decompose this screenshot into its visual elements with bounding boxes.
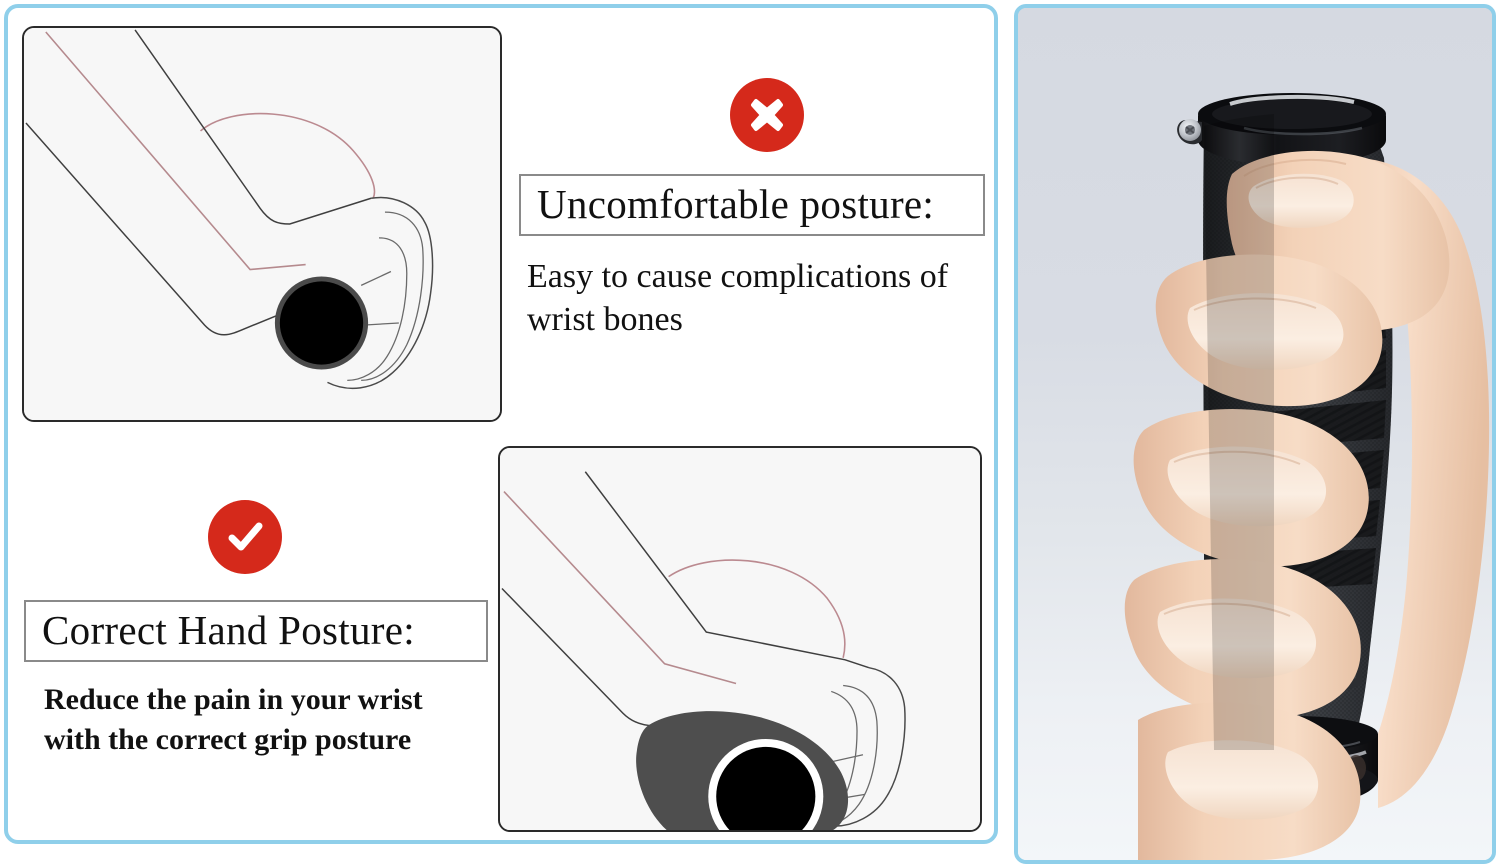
correct-posture-heading-box: Correct Hand Posture: xyxy=(24,600,488,662)
diagram-panel: Uncomfortable posture: Easy to cause com… xyxy=(4,4,998,844)
x-circle-icon xyxy=(730,78,804,152)
product-infographic: Uncomfortable posture: Easy to cause com… xyxy=(0,0,1500,868)
uncomfortable-posture-heading: Uncomfortable posture: xyxy=(537,182,934,227)
uncomfortable-posture-body: Easy to cause complications of wrist bon… xyxy=(527,256,987,342)
correct-posture-body: Reduce the pain in your wrist with the c… xyxy=(44,680,474,760)
bent-wrist-round-grip-diagram xyxy=(22,26,502,422)
correct-posture-heading: Correct Hand Posture: xyxy=(42,608,415,653)
straight-wrist-ergonomic-grip-diagram xyxy=(498,446,982,832)
hand-gripping-ergonomic-bicycle-grip-photo xyxy=(1018,8,1492,860)
check-circle-icon xyxy=(208,500,282,574)
product-photo-panel xyxy=(1014,4,1496,864)
uncomfortable-posture-heading-box: Uncomfortable posture: xyxy=(519,174,985,236)
